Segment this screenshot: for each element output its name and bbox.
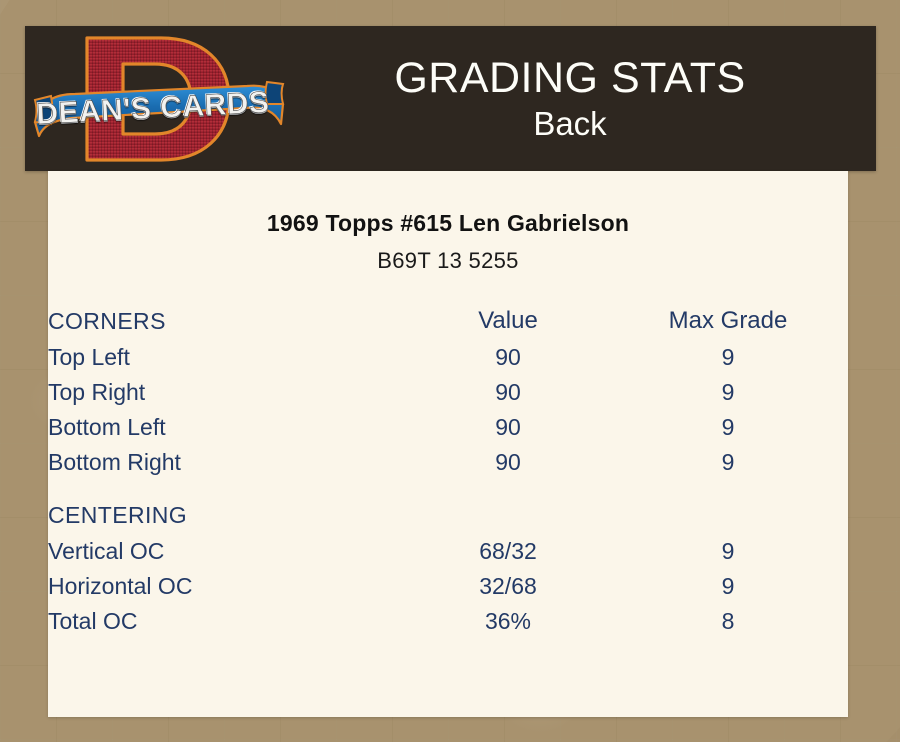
page-subtitle: Back	[290, 106, 850, 142]
row-max-grade: 9	[608, 340, 848, 375]
section-header-row-corners: CORNERS Value Max Grade	[48, 302, 848, 340]
header-titles: GRADING STATS Back	[290, 55, 876, 141]
content-panel: 1969 Topps #615 Len Gabrielson B69T 13 5…	[48, 171, 848, 717]
row-label: Bottom Left	[48, 410, 408, 445]
table-row: Vertical OC 68/32 9	[48, 534, 848, 569]
page-title: GRADING STATS	[290, 55, 850, 101]
row-max-grade: 9	[608, 375, 848, 410]
section-header-row-centering: CENTERING	[48, 496, 848, 534]
row-max-grade: 9	[608, 569, 848, 604]
row-value: 90	[408, 375, 608, 410]
row-value: 90	[408, 410, 608, 445]
row-max-grade: 8	[608, 604, 848, 639]
header-bar: DEAN'S CARDS GRADING STATS Back	[25, 26, 876, 171]
table-row: Bottom Left 90 9	[48, 410, 848, 445]
column-header-value-spacer	[408, 496, 608, 534]
table-row: Top Left 90 9	[48, 340, 848, 375]
grading-stats-table: CORNERS Value Max Grade Top Left 90 9 To…	[48, 302, 848, 639]
column-header-max-grade-spacer	[608, 496, 848, 534]
row-value: 90	[408, 445, 608, 480]
row-label: Top Right	[48, 375, 408, 410]
table-row: Total OC 36% 8	[48, 604, 848, 639]
section-title-centering: CENTERING	[48, 496, 408, 534]
row-label: Bottom Right	[48, 445, 408, 480]
column-header-max-grade: Max Grade	[608, 302, 848, 340]
row-label: Horizontal OC	[48, 569, 408, 604]
section-spacer	[48, 480, 848, 496]
row-value: 68/32	[408, 534, 608, 569]
row-label: Vertical OC	[48, 534, 408, 569]
table-row: Horizontal OC 32/68 9	[48, 569, 848, 604]
row-label: Top Left	[48, 340, 408, 375]
deans-cards-logo[interactable]: DEAN'S CARDS	[25, 26, 290, 171]
table-row: Top Right 90 9	[48, 375, 848, 410]
row-max-grade: 9	[608, 410, 848, 445]
row-value: 32/68	[408, 569, 608, 604]
row-value: 90	[408, 340, 608, 375]
table-row: Bottom Right 90 9	[48, 445, 848, 480]
stats-table-body: CORNERS Value Max Grade Top Left 90 9 To…	[48, 302, 848, 639]
row-max-grade: 9	[608, 534, 848, 569]
card-serial-number: B69T 13 5255	[48, 248, 848, 274]
card-title: 1969 Topps #615 Len Gabrielson	[48, 210, 848, 237]
row-label: Total OC	[48, 604, 408, 639]
column-header-value: Value	[408, 302, 608, 340]
row-max-grade: 9	[608, 445, 848, 480]
row-value: 36%	[408, 604, 608, 639]
section-title-corners: CORNERS	[48, 302, 408, 340]
